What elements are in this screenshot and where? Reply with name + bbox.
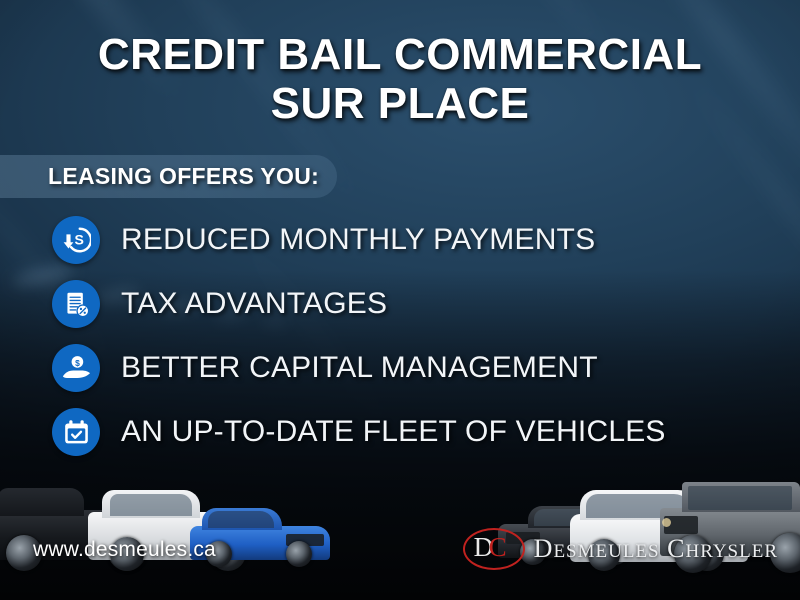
dc-emblem-icon: D C: [463, 528, 525, 570]
logo-word2-cap: C: [667, 534, 685, 563]
svg-text:$: $: [75, 358, 80, 368]
calendar-check-icon: [52, 408, 100, 456]
benefit-label: REDUCED MONTHLY PAYMENTS: [121, 223, 595, 257]
dollar-arrow-down-icon: S: [52, 216, 100, 264]
benefit-label: AN UP-TO-DATE FLEET OF VEHICLES: [121, 415, 666, 449]
benefits-list: S REDUCED MONTHLY PAYMENTS: [0, 208, 720, 464]
logo-word1-cap: D: [534, 534, 554, 563]
leasing-offers-banner: LEASING OFFERS YOU:: [0, 155, 337, 198]
logo-word1-rest: ESMEULES: [553, 541, 659, 562]
document-percent-icon: [52, 280, 100, 328]
vehicle-lineup: [0, 450, 800, 600]
benefit-label: BETTER CAPITAL MANAGEMENT: [121, 351, 598, 385]
list-item: TAX ADVANTAGES: [0, 272, 720, 336]
list-item: S REDUCED MONTHLY PAYMENTS: [0, 208, 720, 272]
headline-line-1: CREDIT BAIL COMMERCIAL: [98, 30, 702, 79]
desmeules-chrysler-logo[interactable]: D C DESMEULES CHRYSLER: [463, 528, 778, 570]
website-url[interactable]: www.desmeules.ca: [33, 538, 216, 562]
promo-banner-root: CREDIT BAIL COMMERCIAL SUR PLACE LEASING…: [0, 0, 800, 600]
list-item: $ BETTER CAPITAL MANAGEMENT: [0, 336, 720, 400]
leasing-offers-label: LEASING OFFERS YOU:: [48, 163, 319, 190]
svg-text:S: S: [75, 232, 84, 248]
benefit-label: TAX ADVANTAGES: [121, 287, 387, 321]
headline: CREDIT BAIL COMMERCIAL SUR PLACE: [0, 30, 800, 128]
headline-line-2: SUR PLACE: [0, 79, 800, 128]
hand-coin-icon: $: [52, 344, 100, 392]
logo-word2-rest: HRYSLER: [685, 541, 778, 562]
emblem-letter-c: C: [489, 534, 507, 561]
logo-wordmark: DESMEULES CHRYSLER: [534, 534, 778, 564]
logo-space: [660, 534, 668, 563]
